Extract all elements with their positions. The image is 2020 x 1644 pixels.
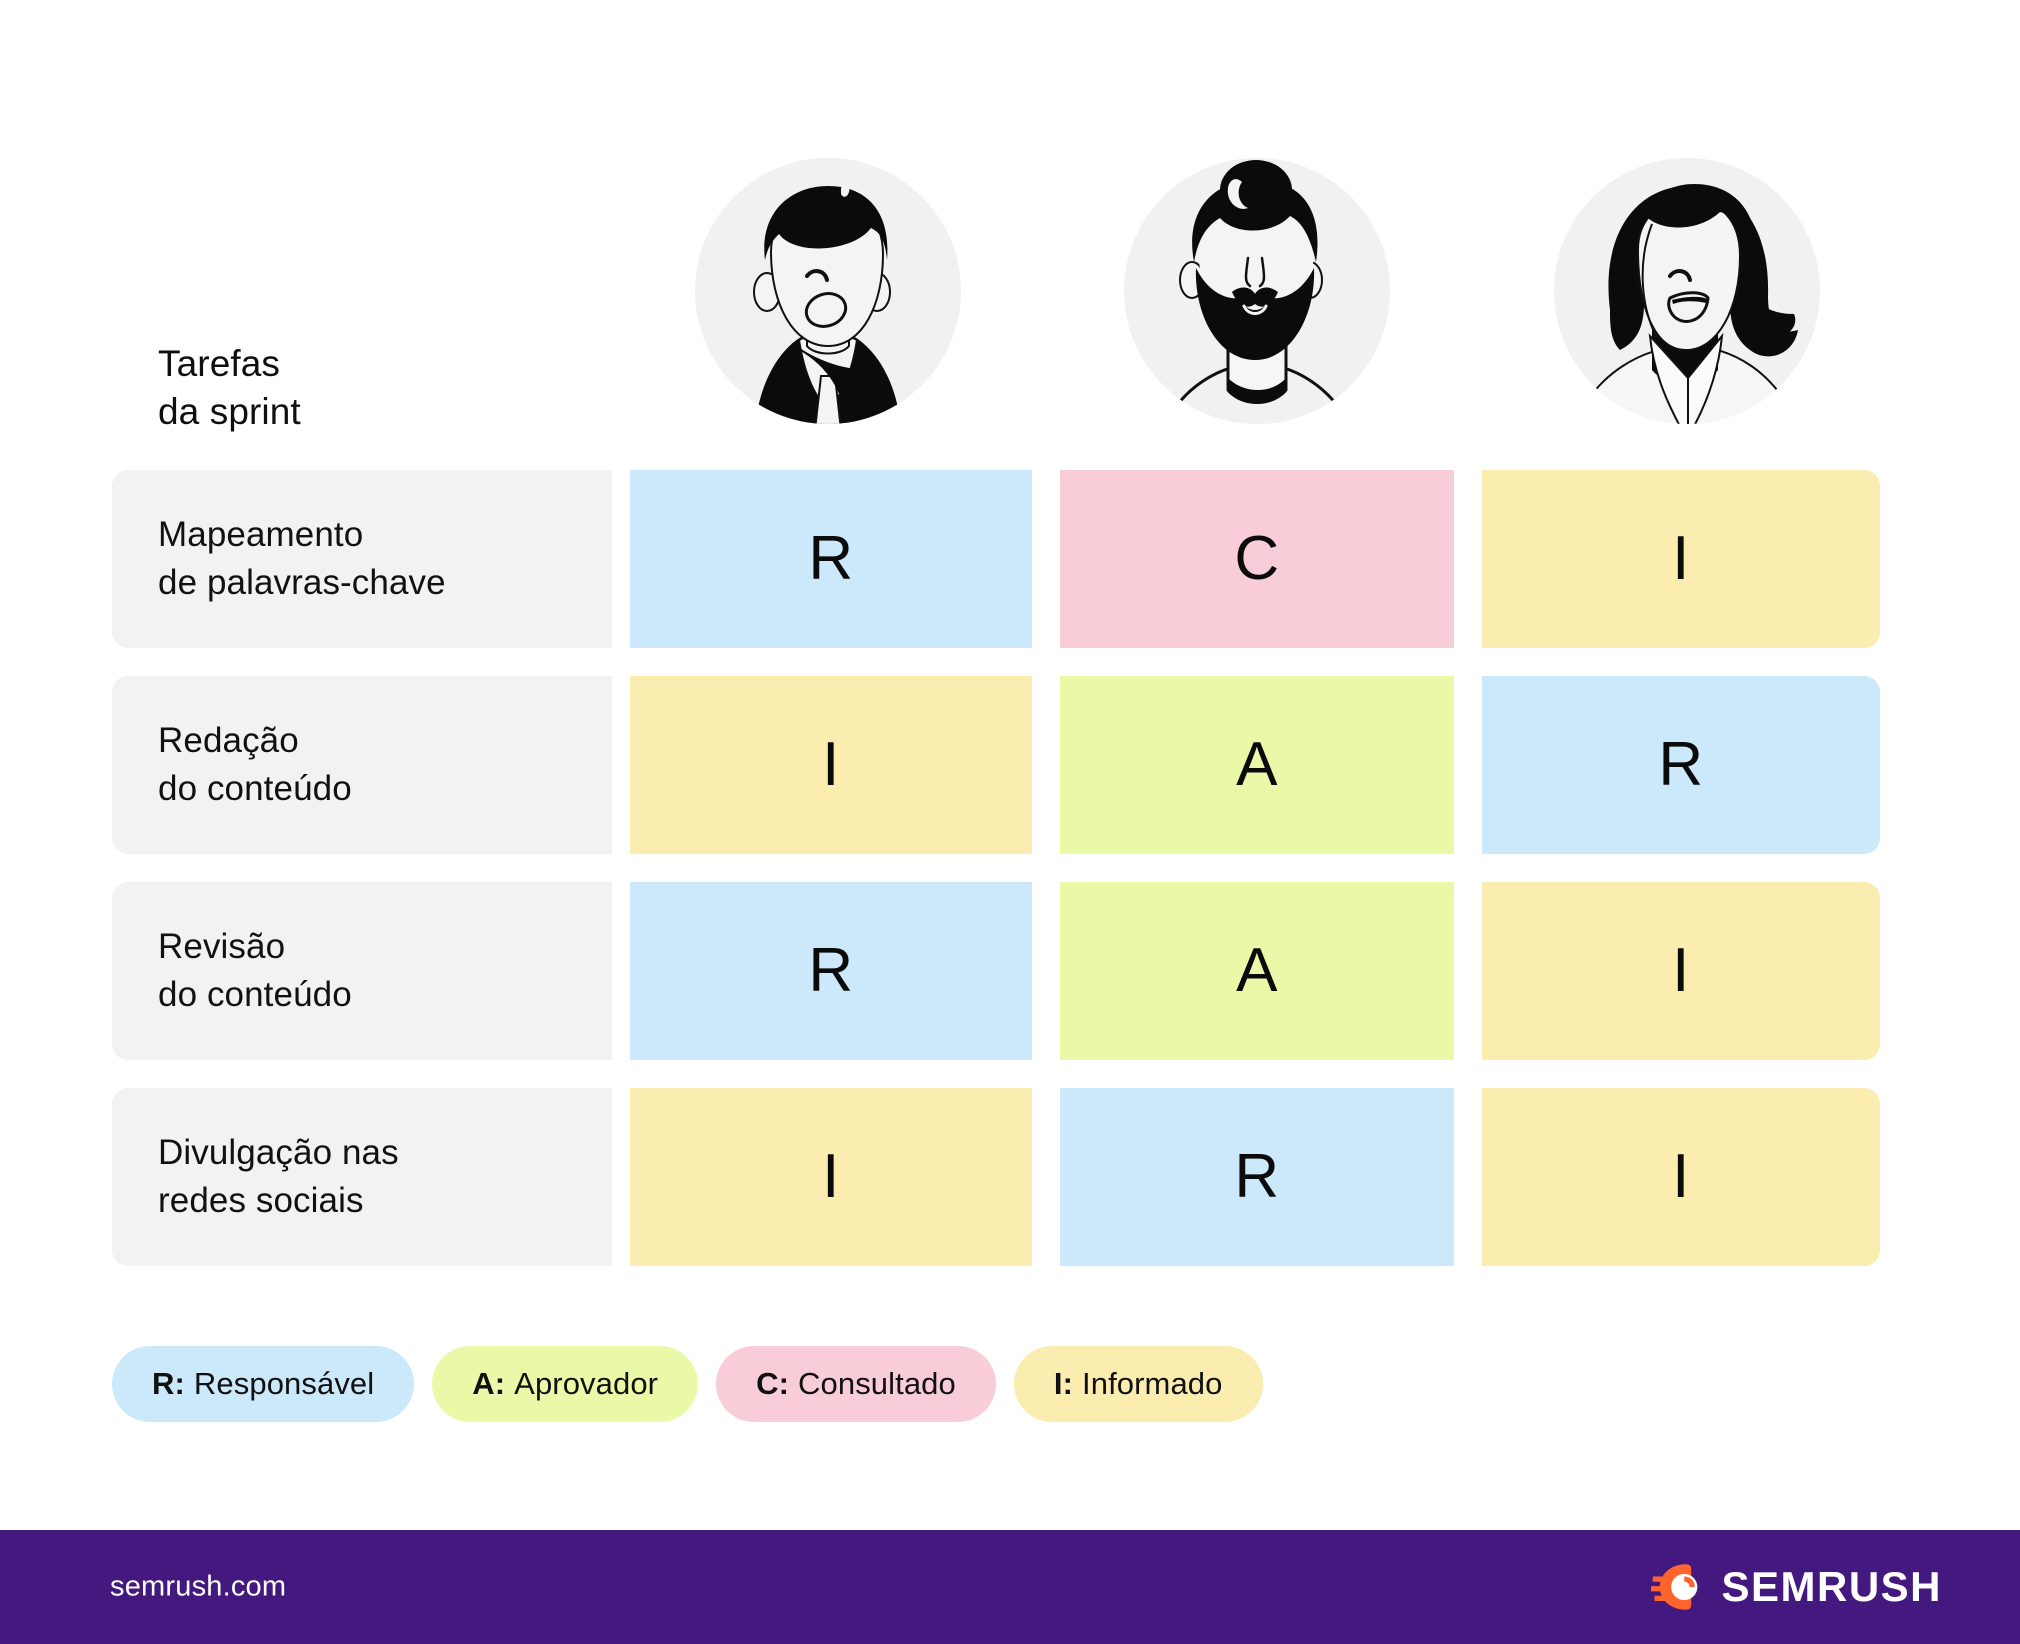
raci-cell[interactable]: R — [1060, 1088, 1454, 1266]
task-label: Redação do conteúdo — [158, 717, 352, 813]
legend-item-informed[interactable]: I: Informado — [1014, 1346, 1263, 1422]
semrush-wordmark: SEMRUSH — [1721, 1563, 1942, 1611]
semrush-logo[interactable]: SEMRUSH — [1651, 1559, 1942, 1615]
footer-url[interactable]: semrush.com — [110, 1571, 286, 1604]
legend-item-responsible[interactable]: R: Responsável — [112, 1346, 414, 1422]
raci-cell[interactable]: I — [630, 676, 1032, 854]
legend-label: Informado — [1082, 1366, 1222, 1402]
raci-letter: A — [1236, 734, 1278, 796]
raci-letter: I — [822, 734, 840, 796]
raci-letter: A — [1236, 940, 1278, 1002]
legend-item-consulted[interactable]: C: Consultado — [716, 1346, 996, 1422]
legend-key: R: — [152, 1366, 185, 1402]
legend-key: A: — [472, 1366, 505, 1402]
raci-cell[interactable]: I — [630, 1088, 1032, 1266]
raci-letter: R — [808, 940, 853, 1002]
raci-letter: I — [1672, 940, 1690, 1002]
semrush-comet-icon — [1651, 1559, 1707, 1615]
task-label: Mapeamento de palavras-chave — [158, 511, 446, 607]
legend-label: Responsável — [194, 1366, 374, 1402]
task-label: Revisão do conteúdo — [158, 923, 352, 1019]
raci-letter: I — [1672, 528, 1690, 590]
raci-letter: I — [1672, 1146, 1690, 1208]
raci-letter: I — [822, 1146, 840, 1208]
raci-matrix-infographic: Tarefas da sprint Mapeamento de palavras… — [0, 0, 2020, 1644]
task-label-cell: Revisão do conteúdo — [112, 882, 612, 1060]
task-label-cell: Redação do conteúdo — [112, 676, 612, 854]
raci-cell[interactable]: R — [630, 882, 1032, 1060]
raci-cell[interactable]: I — [1482, 882, 1880, 1060]
task-label-cell: Divulgação nas redes sociais — [112, 1088, 612, 1266]
raci-cell[interactable]: R — [1482, 676, 1880, 854]
legend-item-accountable[interactable]: A: Aprovador — [432, 1346, 698, 1422]
raci-letter: R — [808, 528, 853, 590]
raci-cell[interactable]: A — [1060, 676, 1454, 854]
footer-bar: semrush.com SEMRUSH — [0, 1530, 2020, 1644]
raci-cell[interactable]: R — [630, 470, 1032, 648]
legend-key: I: — [1054, 1366, 1073, 1402]
raci-letter: R — [1234, 1146, 1279, 1208]
raci-letter: R — [1658, 734, 1703, 796]
raci-cell[interactable]: A — [1060, 882, 1454, 1060]
raci-legend: R: Responsável A: Aprovador C: Consultad… — [112, 1346, 1263, 1422]
raci-cell[interactable]: I — [1482, 470, 1880, 648]
task-label-cell: Mapeamento de palavras-chave — [112, 470, 612, 648]
legend-label: Aprovador — [514, 1366, 658, 1402]
task-label: Divulgação nas redes sociais — [158, 1129, 399, 1225]
raci-cell[interactable]: C — [1060, 470, 1454, 648]
raci-cell[interactable]: I — [1482, 1088, 1880, 1266]
raci-letter: C — [1234, 528, 1279, 590]
legend-label: Consultado — [798, 1366, 956, 1402]
legend-key: C: — [756, 1366, 789, 1402]
